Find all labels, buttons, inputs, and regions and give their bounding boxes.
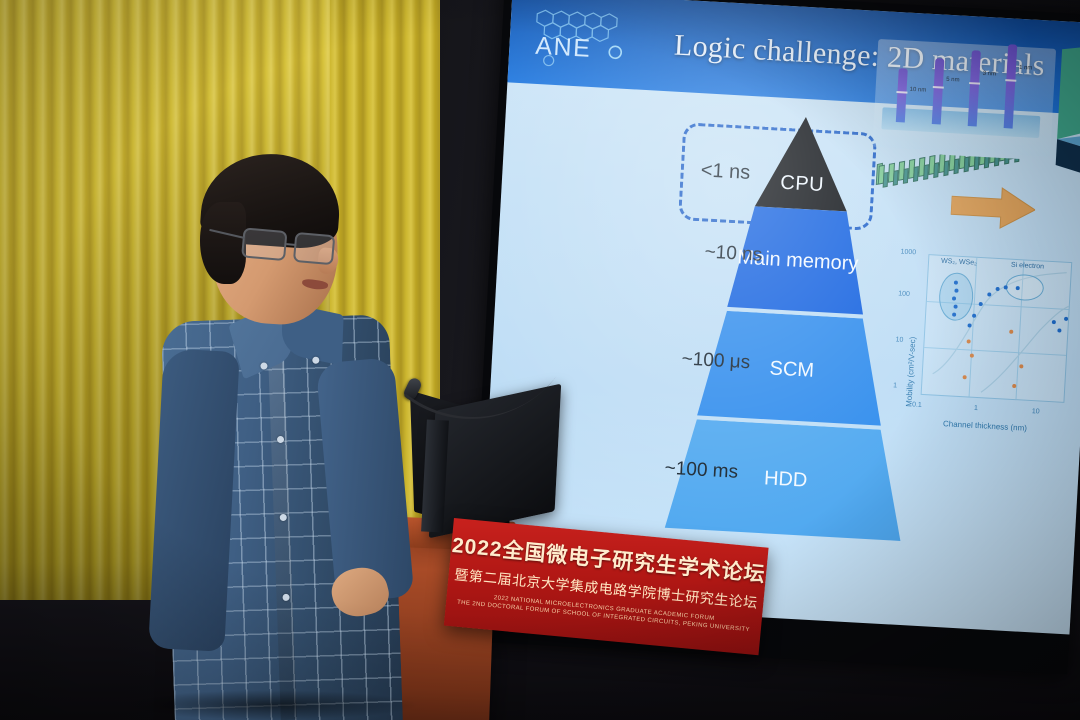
pillar-5nm-label: 5 nm <box>946 77 960 84</box>
collar-button-right <box>312 357 319 364</box>
shirt-placket <box>267 328 297 720</box>
chart-ytick-1000: 1000 <box>900 249 916 257</box>
chart-xtick-10: 10 <box>1032 408 1040 415</box>
chart-xtick-1: 1 <box>974 405 978 412</box>
pyramid-level-cpu <box>755 114 852 211</box>
chart-ytick-100: 100 <box>898 290 910 298</box>
transistor-scaling-graphic: 10 nm 5 nm 3 nm 1 nm <box>872 39 1056 157</box>
mobility-vs-thickness-chart: Mobility (cm²/V-sec) 1000 100 10 1 <box>881 242 1077 437</box>
pyramid-level-cpu-label: CPU <box>780 172 825 197</box>
pillar-10nm-label: 10 nm <box>909 87 926 94</box>
glasses-bridge <box>286 243 296 246</box>
speaker-arm-left <box>148 348 240 652</box>
speaker-sideburn <box>200 202 246 284</box>
glasses-lens-left <box>241 227 287 261</box>
chart-ytick-1: 1 <box>893 382 897 389</box>
pillar-1nm-label: 1 nm <box>1019 65 1033 72</box>
chart-y-axis-label: Mobility (cm²/V-sec) <box>903 306 919 436</box>
svg-text:ANE: ANE <box>535 32 592 63</box>
chart-x-axis-label: Channel thickness (nm) <box>943 419 1027 433</box>
glasses-lens-right <box>293 232 335 265</box>
pillar-3nm-label: 3 nm <box>982 71 996 78</box>
speaker <box>150 150 480 720</box>
2d-lattice-illustration <box>873 151 1043 208</box>
chart-ytick-10: 10 <box>895 336 903 343</box>
floor-shadow <box>120 690 420 720</box>
chart-xtick-0.1: 0.1 <box>912 401 922 409</box>
cpu-latency-label: <1 ns <box>700 159 751 185</box>
photo-scene: ANE Logic challenge: 2D materials <1 ns … <box>0 0 1080 720</box>
chart-plot-area: WS₂, WSe₂ Si electron <box>921 254 1073 403</box>
ane-logo-icon: ANE <box>518 1 634 79</box>
